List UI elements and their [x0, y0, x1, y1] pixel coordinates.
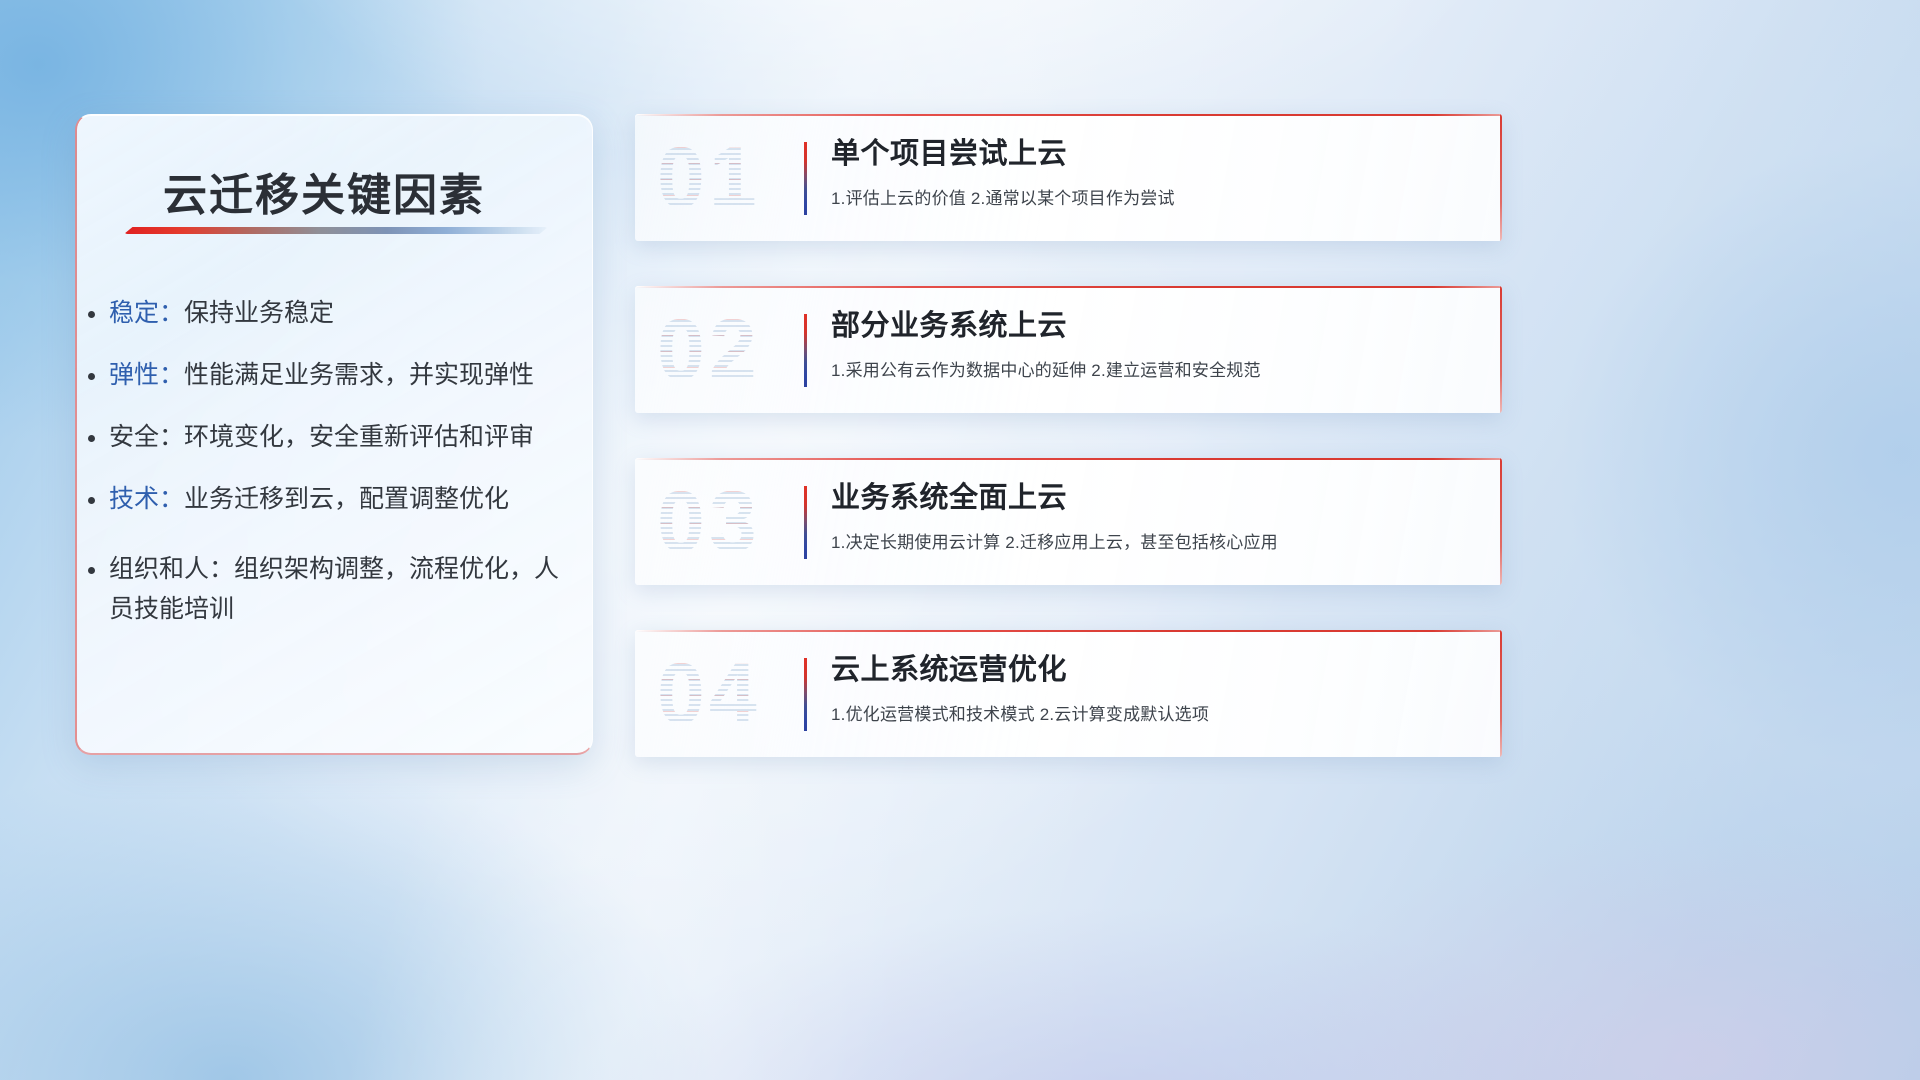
key-factor-label: 稳定：: [109, 299, 184, 327]
stage-description: 1.优化运营模式和技术模式 2.云计算变成默认选项: [831, 700, 1476, 725]
stage-card-body: 单个项目尝试上云1.评估上云的价值 2.通常以某个项目作为尝试: [831, 137, 1476, 209]
key-factor-label: 弹性：: [109, 361, 184, 389]
key-factor-label: 技术：: [109, 485, 184, 513]
stage-divider-bar: [804, 486, 807, 559]
stage-number-watermark-tint: 04: [657, 644, 837, 744]
stage-divider-bar: [804, 658, 807, 731]
stage-number-watermark-tint: 01: [657, 128, 837, 228]
stage-divider-bar: [804, 314, 807, 387]
page-title: 云迁移关键因素: [163, 159, 485, 223]
key-factor-item: 稳定：保持业务稳定: [109, 301, 568, 326]
key-factor-item: 技术：业务迁移到云，配置调整优化: [109, 487, 568, 512]
stage-title: 部分业务系统上云: [831, 309, 1476, 343]
stage-title: 云上系统运营优化: [831, 653, 1476, 687]
stage-card[interactable]: 0101单个项目尝试上云1.评估上云的价值 2.通常以某个项目作为尝试: [635, 114, 1502, 241]
key-factor-item: 安全：环境变化，安全重新评估和评审: [109, 425, 568, 450]
stage-card[interactable]: 0303业务系统全面上云1.决定长期使用云计算 2.迁移应用上云，甚至包括核心应…: [635, 458, 1502, 585]
title-underline-gradient: [124, 227, 548, 234]
key-factor-text: 保持业务稳定: [184, 299, 334, 327]
stage-card-body: 云上系统运营优化1.优化运营模式和技术模式 2.云计算变成默认选项: [831, 653, 1476, 725]
key-factor-item: 组织和人：组织架构调整，流程优化，人员技能培训: [109, 549, 568, 629]
key-factors-list: 稳定：保持业务稳定弹性：性能满足业务需求，并实现弹性安全：环境变化，安全重新评估…: [109, 301, 568, 666]
stage-card-list: 0101单个项目尝试上云1.评估上云的价值 2.通常以某个项目作为尝试0202部…: [635, 114, 1502, 802]
key-factor-label: 安全：: [109, 423, 184, 451]
stage-card[interactable]: 0404云上系统运营优化1.优化运营模式和技术模式 2.云计算变成默认选项: [635, 630, 1502, 757]
stage-card-body: 业务系统全面上云1.决定长期使用云计算 2.迁移应用上云，甚至包括核心应用: [831, 481, 1476, 553]
key-factor-label: 组织和人：: [109, 555, 234, 583]
stage-description: 1.决定长期使用云计算 2.迁移应用上云，甚至包括核心应用: [831, 528, 1476, 553]
stage-number-watermark-tint: 02: [657, 300, 837, 400]
key-factors-panel: 云迁移关键因素 稳定：保持业务稳定弹性：性能满足业务需求，并实现弹性安全：环境变…: [75, 114, 593, 755]
key-factor-text: 性能满足业务需求，并实现弹性: [184, 361, 534, 389]
stage-card-body: 部分业务系统上云1.采用公有云作为数据中心的延伸 2.建立运营和安全规范: [831, 309, 1476, 381]
stage-number-watermark-tint: 03: [657, 472, 837, 572]
key-factor-item: 弹性：性能满足业务需求，并实现弹性: [109, 363, 568, 388]
key-factor-text: 环境变化，安全重新评估和评审: [184, 423, 534, 451]
stage-description: 1.采用公有云作为数据中心的延伸 2.建立运营和安全规范: [831, 356, 1476, 381]
stage-title: 业务系统全面上云: [831, 481, 1476, 515]
stage-divider-bar: [804, 142, 807, 215]
stage-card[interactable]: 0202部分业务系统上云1.采用公有云作为数据中心的延伸 2.建立运营和安全规范: [635, 286, 1502, 413]
stage-description: 1.评估上云的价值 2.通常以某个项目作为尝试: [831, 184, 1476, 209]
stage-title: 单个项目尝试上云: [831, 137, 1476, 171]
key-factor-text: 业务迁移到云，配置调整优化: [184, 485, 509, 513]
